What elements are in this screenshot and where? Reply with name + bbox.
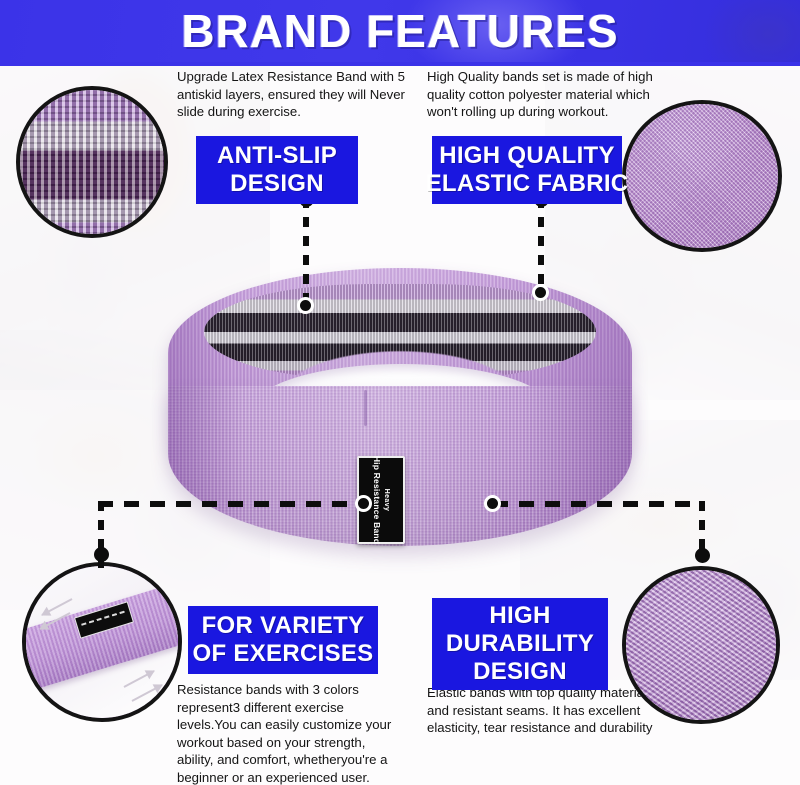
product-label-tag: Heavy Hip Resistance Band <box>357 456 405 544</box>
feature-heading-elastic-fabric-line1: HIGH QUALITY <box>439 142 615 170</box>
feature-heading-high-durability: HIGH DURABILITY DESIGN <box>432 598 608 690</box>
description-high-durability: Elastic bands with top quality materials… <box>427 684 655 737</box>
feature-heading-durability-line1: HIGH <box>489 602 550 630</box>
feature-heading-durability-line2: DURABILITY <box>446 630 594 658</box>
stretch-arrow-icon <box>124 670 155 688</box>
elastic-fabric-texture <box>626 104 778 248</box>
feature-heading-anti-slip-line2: DESIGN <box>230 170 324 198</box>
brand-features-infographic: BRAND FEATURES Upgrade Latex Resistance … <box>0 0 800 785</box>
feature-heading-anti-slip: ANTI-SLIP DESIGN <box>196 136 358 204</box>
feature-heading-elastic-fabric: HIGH QUALITY ELASTIC FABRIC <box>432 136 622 204</box>
feature-heading-elastic-fabric-line2: ELASTIC FABRIC <box>426 170 629 198</box>
feature-heading-variety-line1: FOR VARIETY <box>202 612 365 640</box>
connector-line-durability-vertical <box>699 501 705 561</box>
description-for-variety-of-exercises: Resistance bands with 3 colors represent… <box>177 681 405 785</box>
connector-dot-variety-circle <box>94 547 109 562</box>
stretch-arrow-icon <box>132 684 163 702</box>
photo-inset-variety-of-exercises <box>22 562 182 722</box>
product-resistance-band: Heavy Hip Resistance Band <box>168 268 632 558</box>
product-label-tag-text: Heavy Hip Resistance Band <box>371 456 391 544</box>
feature-heading-anti-slip-line1: ANTI-SLIP <box>217 142 337 170</box>
header-underline <box>0 62 800 66</box>
connector-dot-durability-circle <box>695 548 710 563</box>
band-stretch-scene <box>26 566 178 718</box>
description-anti-slip: Upgrade Latex Resistance Band with 5 ant… <box>177 68 409 121</box>
photo-inset-high-durability <box>622 566 780 724</box>
product-tag-name: Hip Resistance Band <box>371 456 382 544</box>
durable-knit-texture <box>626 570 776 720</box>
description-high-quality-elastic-fabric: High Quality bands set is made of high q… <box>427 68 657 121</box>
header-banner: BRAND FEATURES <box>0 0 800 62</box>
feature-heading-variety-of-exercises: FOR VARIETY OF EXERCISES <box>188 606 378 674</box>
page-title: BRAND FEATURES <box>0 3 800 59</box>
stretched-band <box>22 574 182 699</box>
band-seam <box>364 390 367 426</box>
anti-slip-texture <box>20 90 164 234</box>
photo-inset-anti-slip <box>16 86 168 238</box>
product-tag-size: Heavy <box>382 456 391 544</box>
photo-inset-elastic-fabric <box>622 100 782 252</box>
feature-heading-durability-line3: DESIGN <box>473 658 567 686</box>
feature-heading-variety-line2: OF EXERCISES <box>193 640 374 668</box>
